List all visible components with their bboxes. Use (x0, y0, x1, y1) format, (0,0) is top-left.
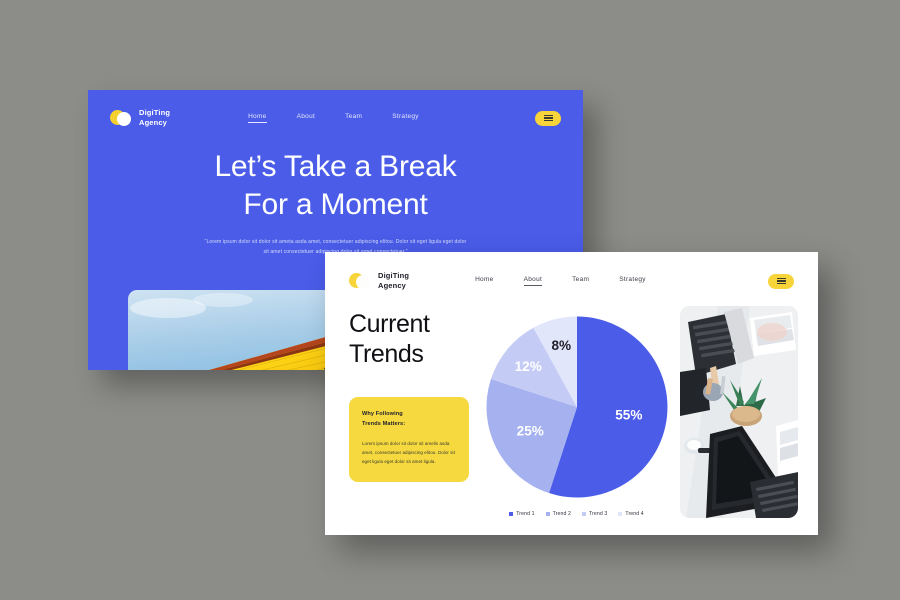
callout-box: Why Following Trends Matters: Lorem ipsu… (349, 397, 469, 482)
nav-item-about[interactable]: About (524, 276, 543, 286)
nav-item-home[interactable]: Home (475, 276, 494, 286)
legend-swatch-icon (582, 512, 586, 516)
nav-item-strategy[interactable]: Strategy (619, 276, 646, 286)
two-circles-logo-icon (110, 110, 132, 127)
callout-heading-line1: Why Following (362, 411, 403, 417)
nav-item-strategy[interactable]: Strategy (392, 113, 419, 123)
brand-name: DigiTing Agency (139, 108, 170, 128)
back-slide-header: DigiTing Agency Home About Team Strategy (88, 90, 583, 146)
nav-item-home[interactable]: Home (248, 113, 267, 123)
hero-title: Let’s Take a Break For a Moment (88, 148, 583, 224)
hamburger-menu-icon[interactable] (535, 111, 561, 126)
legend-label: Trend 3 (589, 511, 607, 517)
legend-swatch-icon (546, 512, 550, 516)
trends-left-column: Current Trends Why Following Trends Matt… (349, 302, 473, 535)
trends-right-column (680, 302, 800, 535)
hero-content: Let’s Take a Break For a Moment “Lorem i… (88, 146, 583, 257)
pie-chart: 55%25%12%8% (482, 312, 672, 502)
hamburger-menu-icon[interactable] (768, 274, 794, 289)
hero-title-line2: For a Moment (243, 188, 427, 221)
overhead-desk-workspace-with-laptops-and-plant-photo (680, 306, 798, 518)
nav-item-about[interactable]: About (297, 113, 316, 123)
callout-body: Lorem ipsum dolor sit dolor sit amelis a… (362, 439, 457, 466)
callout-heading: Why Following Trends Matters: (362, 409, 457, 430)
legend-swatch-icon (509, 512, 513, 516)
two-circles-logo-icon (349, 273, 371, 290)
pie-label-trend-3: 12% (514, 359, 541, 374)
legend-label: Trend 4 (625, 511, 643, 517)
legend-item-trend-2[interactable]: Trend 2 (546, 511, 571, 517)
nav-item-team[interactable]: Team (345, 113, 362, 123)
workspace-photo (680, 306, 798, 518)
page-title-line1: Current (349, 310, 430, 338)
pie-label-trend-4: 8% (551, 338, 571, 353)
hero-title-line1: Let’s Take a Break (214, 150, 456, 183)
brand-name-line1: DigiTing (378, 271, 409, 280)
pie-chart-region: 55%25%12%8% Trend 1Trend 2Trend 3Trend 4 (473, 302, 680, 535)
chart-legend: Trend 1Trend 2Trend 3Trend 4 (509, 511, 644, 517)
legend-item-trend-3[interactable]: Trend 3 (582, 511, 607, 517)
legend-swatch-icon (618, 512, 622, 516)
front-slide-nav: Home About Team Strategy (475, 276, 646, 286)
legend-item-trend-1[interactable]: Trend 1 (509, 511, 534, 517)
callout-heading-line2: Trends Matters: (362, 421, 405, 427)
brand-logo[interactable]: DigiTing Agency (349, 271, 409, 291)
back-slide-nav: Home About Team Strategy (248, 113, 419, 123)
brand-name-line2: Agency (139, 118, 167, 127)
legend-label: Trend 1 (516, 511, 534, 517)
brand-name: DigiTing Agency (378, 271, 409, 291)
pie-label-trend-1: 55% (615, 408, 642, 423)
page-title-line2: Trends (349, 340, 423, 368)
brand-name-line2: Agency (378, 281, 406, 290)
page-title: Current Trends (349, 310, 473, 369)
front-slide-body: Current Trends Why Following Trends Matt… (325, 302, 818, 535)
legend-label: Trend 2 (553, 511, 571, 517)
brand-logo[interactable]: DigiTing Agency (110, 108, 170, 128)
nav-item-team[interactable]: Team (572, 276, 589, 286)
slide-trends-card: DigiTing Agency Home About Team Strategy… (325, 252, 818, 535)
legend-item-trend-4[interactable]: Trend 4 (618, 511, 643, 517)
pie-label-trend-2: 25% (516, 423, 543, 438)
brand-name-line1: DigiTing (139, 108, 170, 117)
